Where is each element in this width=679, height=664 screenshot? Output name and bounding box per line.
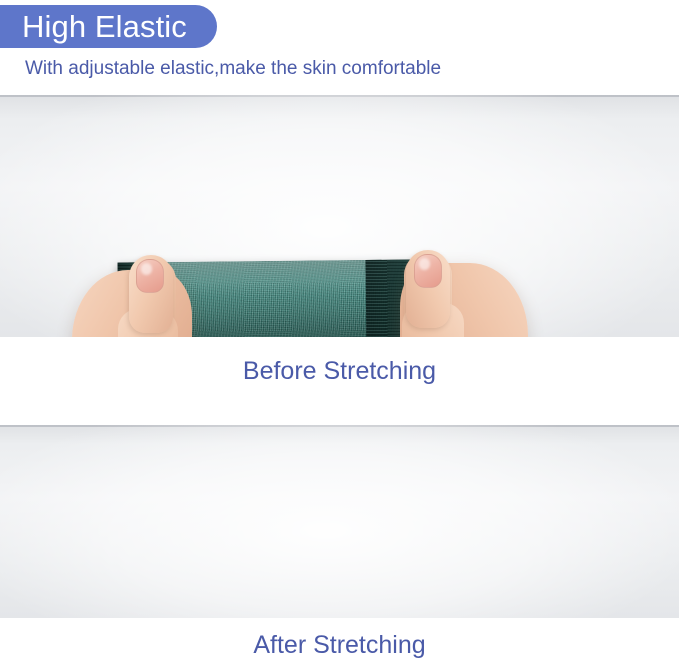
photo-panel-before: [0, 95, 679, 337]
subtitle-text: With adjustable elastic,make the skin co…: [25, 57, 441, 81]
left-hand-thumb-nail: [136, 259, 164, 293]
right-hand-thumb-nail: [414, 254, 442, 288]
title-badge: High Elastic: [0, 5, 217, 48]
backdrop-glow: [0, 425, 679, 618]
caption-after-stretching: After Stretching: [0, 630, 679, 660]
product-feature-image: High Elastic With adjustable elastic,mak…: [0, 0, 679, 664]
header: High Elastic With adjustable elastic,mak…: [0, 0, 679, 95]
nail-gloss: [419, 258, 431, 270]
nail-gloss: [141, 263, 153, 275]
photo-panel-after: [0, 425, 679, 618]
caption-before-stretching: Before Stretching: [0, 356, 679, 386]
title-badge-label: High Elastic: [22, 11, 187, 42]
